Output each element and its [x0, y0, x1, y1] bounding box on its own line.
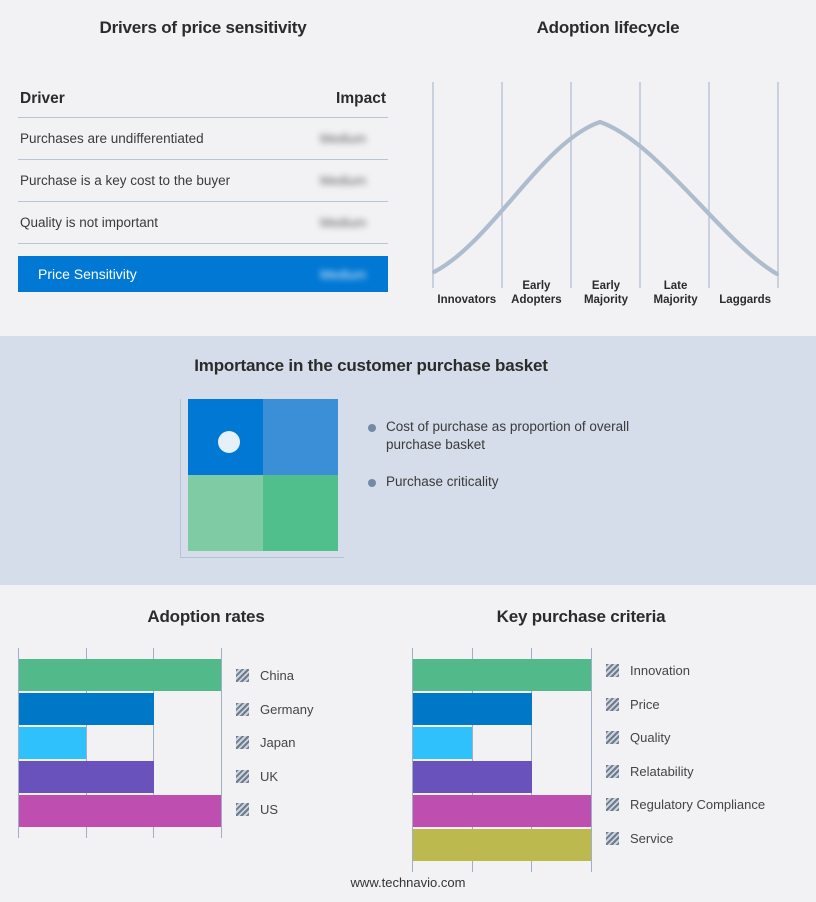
- column-header-impact: Impact: [336, 90, 386, 108]
- matrix-quadrant-bottom-left[interactable]: [188, 475, 263, 551]
- adoption-rates-chart: [18, 648, 222, 848]
- bar-row: [413, 727, 592, 759]
- legend-item[interactable]: China: [236, 659, 396, 693]
- hatch-swatch-icon: [236, 770, 249, 783]
- bullet-icon: [368, 424, 376, 432]
- drivers-panel-title: Drivers of price sensitivity: [18, 18, 388, 38]
- hatch-swatch-icon: [606, 698, 619, 711]
- bar-row: [413, 659, 592, 691]
- legend-label: Quality: [630, 730, 670, 745]
- column-header-driver: Driver: [20, 90, 65, 108]
- lifecycle-segment-innovators: Innovators: [432, 266, 502, 310]
- legend-item[interactable]: Service: [606, 822, 806, 856]
- bar-japan[interactable]: [19, 727, 86, 759]
- bar-quality[interactable]: [413, 727, 472, 759]
- legend-label: UK: [260, 769, 278, 784]
- price-sensitivity-summary-row[interactable]: Price Sensitivity Medium: [18, 256, 388, 292]
- legend-label: Price: [630, 697, 660, 712]
- legend-label: China: [260, 668, 294, 683]
- bar-row: [413, 693, 592, 725]
- hatch-swatch-icon: [236, 669, 249, 682]
- segment-line2: Majority: [584, 294, 628, 306]
- bar-relatability[interactable]: [413, 761, 532, 793]
- bar-innovation[interactable]: [413, 659, 591, 691]
- legend-item[interactable]: Germany: [236, 693, 396, 727]
- purchase-criteria-panel-title: Key purchase criteria: [412, 607, 750, 627]
- hatch-swatch-icon: [236, 736, 249, 749]
- adoption-rates-panel-title: Adoption rates: [18, 607, 394, 627]
- legend-label: US: [260, 802, 278, 817]
- legend-item[interactable]: UK: [236, 760, 396, 794]
- hatch-swatch-icon: [606, 832, 619, 845]
- adoption-rates-plot-area: [18, 648, 222, 838]
- importance-legend-label: Cost of purchase as proportion of overal…: [386, 418, 648, 454]
- lifecycle-panel-title: Adoption lifecycle: [428, 18, 788, 38]
- lifecycle-segment-late-majority: LateMajority: [641, 266, 711, 310]
- hatch-swatch-icon: [236, 803, 249, 816]
- matrix-y-axis: [180, 399, 181, 557]
- matrix-x-axis: [180, 557, 344, 558]
- bullet-icon: [368, 479, 376, 487]
- legend-label: Service: [630, 831, 673, 846]
- bar-row: [19, 795, 222, 827]
- driver-label: Purchases are undifferentiated: [20, 131, 204, 146]
- hatch-swatch-icon: [606, 798, 619, 811]
- legend-item[interactable]: Price: [606, 688, 806, 722]
- summary-label: Price Sensitivity: [38, 266, 137, 282]
- driver-label: Purchase is a key cost to the buyer: [20, 173, 230, 188]
- matrix-quadrants: [188, 399, 338, 551]
- legend-item[interactable]: Japan: [236, 726, 396, 760]
- legend-label: Japan: [260, 735, 295, 750]
- segment-line2: Adopters: [511, 294, 561, 306]
- importance-legend-label: Purchase criticality: [386, 473, 499, 491]
- hatch-swatch-icon: [606, 664, 619, 677]
- list-item: Cost of purchase as proportion of overal…: [368, 418, 648, 454]
- bar-row: [413, 829, 592, 861]
- bar-china[interactable]: [19, 659, 221, 691]
- drivers-table-header: Driver Impact: [18, 90, 388, 118]
- table-row[interactable]: Quality is not important Medium: [18, 202, 388, 244]
- hatch-swatch-icon: [606, 731, 619, 744]
- legend-item[interactable]: Regulatory Compliance: [606, 788, 806, 822]
- lifecycle-segment-early-adopters: EarlyAdopters: [502, 266, 572, 310]
- impact-value: Medium: [320, 215, 386, 230]
- legend-label: Relatability: [630, 764, 694, 779]
- matrix-quadrant-bottom-right[interactable]: [263, 475, 338, 551]
- lifecycle-segment-early-majority: EarlyMajority: [571, 266, 641, 310]
- bar-row: [19, 659, 222, 691]
- segment-line1: Late: [664, 280, 688, 292]
- purchase-criteria-legend: InnovationPriceQualityRelatabilityRegula…: [606, 654, 806, 855]
- driver-label: Quality is not important: [20, 215, 158, 230]
- legend-label: Germany: [260, 702, 313, 717]
- adoption-rates-legend: ChinaGermanyJapanUKUS: [236, 659, 396, 827]
- matrix-position-marker-icon: [218, 431, 240, 453]
- legend-label: Regulatory Compliance: [630, 797, 765, 812]
- matrix-quadrant-top-left[interactable]: [188, 399, 263, 475]
- bar-regulatory-compliance[interactable]: [413, 795, 591, 827]
- segment-line1: Early: [592, 280, 620, 292]
- hatch-swatch-icon: [236, 703, 249, 716]
- importance-legend: Cost of purchase as proportion of overal…: [368, 418, 648, 510]
- importance-panel-title: Importance in the customer purchase bask…: [18, 356, 724, 376]
- drivers-table: Driver Impact Purchases are undifferenti…: [18, 90, 388, 292]
- legend-label: Innovation: [630, 663, 690, 678]
- summary-impact-value: Medium: [320, 267, 386, 282]
- segment-line2: Majority: [654, 294, 698, 306]
- bar-row: [19, 693, 222, 725]
- purchase-criteria-chart: [412, 648, 592, 868]
- matrix-quadrant-top-right[interactable]: [263, 399, 338, 475]
- footer-url[interactable]: www.technavio.com: [0, 875, 816, 890]
- adoption-lifecycle-chart: Innovators EarlyAdopters EarlyMajority L…: [432, 82, 780, 310]
- importance-matrix: [180, 399, 340, 559]
- bar-germany[interactable]: [19, 693, 154, 725]
- segment-line2: Innovators: [437, 294, 496, 306]
- lifecycle-segment-labels: Innovators EarlyAdopters EarlyMajority L…: [432, 266, 780, 310]
- table-row[interactable]: Purchases are undifferentiated Medium: [18, 118, 388, 160]
- purchase-criteria-plot-area: [412, 648, 592, 872]
- bar-uk[interactable]: [19, 761, 154, 793]
- legend-item[interactable]: Quality: [606, 721, 806, 755]
- list-item: Purchase criticality: [368, 473, 648, 491]
- lifecycle-segment-laggards: Laggards: [710, 266, 780, 310]
- segment-line1: Early: [522, 280, 550, 292]
- legend-item[interactable]: Relatability: [606, 755, 806, 789]
- bar-row: [413, 761, 592, 793]
- bar-row: [19, 727, 222, 759]
- bar-us[interactable]: [19, 795, 221, 827]
- impact-value: Medium: [320, 173, 386, 188]
- hatch-swatch-icon: [606, 765, 619, 778]
- segment-line2: Laggards: [719, 294, 771, 306]
- bar-price[interactable]: [413, 693, 532, 725]
- table-row[interactable]: Purchase is a key cost to the buyer Medi…: [18, 160, 388, 202]
- impact-value: Medium: [320, 131, 386, 146]
- bar-service[interactable]: [413, 829, 591, 861]
- legend-item[interactable]: Innovation: [606, 654, 806, 688]
- infographic-page: Drivers of price sensitivity Driver Impa…: [0, 0, 816, 902]
- legend-item[interactable]: US: [236, 793, 396, 827]
- bar-row: [19, 761, 222, 793]
- bar-row: [413, 795, 592, 827]
